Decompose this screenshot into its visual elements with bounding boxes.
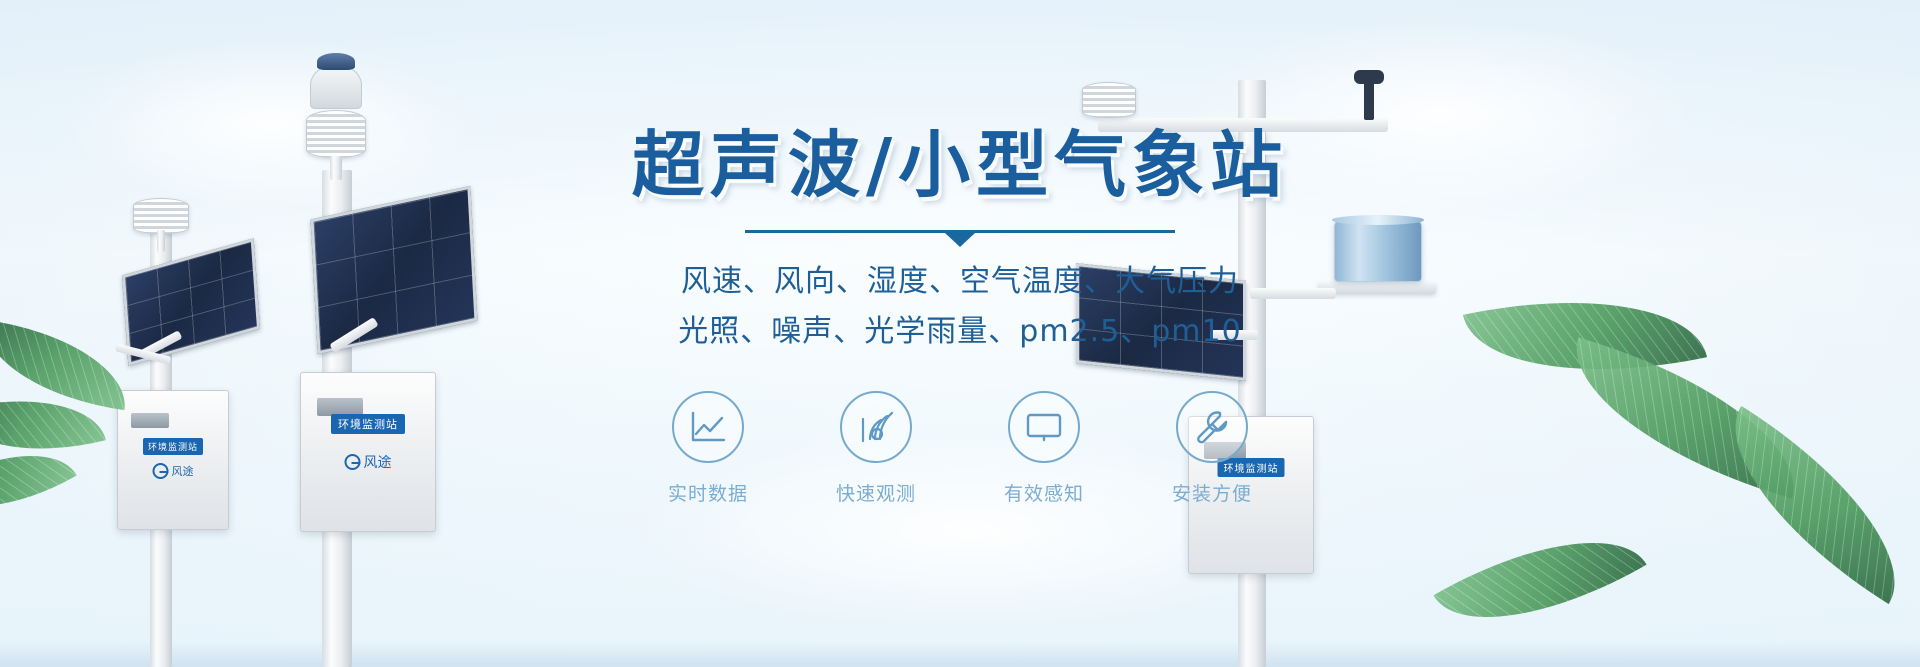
ultrasonic-wind-sensor (310, 65, 362, 109)
brand-mark-icon (153, 463, 169, 479)
feature-list: 实时数据 快速观测 (590, 391, 1330, 506)
enclosure-cabinet: 环境监测站 风途 (300, 372, 436, 532)
title-divider (745, 230, 1175, 233)
radiation-shield-sensor (133, 198, 189, 234)
brand-logo: 风途 (153, 463, 194, 479)
chevron-down-icon (945, 233, 975, 247)
cabinet-label: 环境监测站 (143, 438, 203, 455)
sensor-stem (157, 230, 165, 252)
subtitle-line-2: 光照、噪声、光学雨量、pm2.5、pm10 (590, 307, 1330, 357)
wrench-icon (1176, 391, 1248, 463)
product-banner: 环境监测站 风途 环境监测站 风途 (0, 0, 1920, 667)
cabinet-label: 环境监测站 (331, 414, 405, 434)
solar-panel (122, 238, 260, 366)
feature-label: 快速观测 (816, 479, 936, 506)
page-title: 超声波/小型气象站 (590, 128, 1330, 204)
banner-copy: 超声波/小型气象站 风速、风向、湿度、空气温度、大气压力 光照、噪声、光学雨量、… (590, 128, 1330, 506)
brand-logo: 风途 (345, 452, 392, 472)
radiation-shield-sensor (306, 110, 366, 158)
enclosure-cabinet: 环境监测站 风途 (117, 390, 229, 530)
feature-item-easy-installation[interactable]: 安装方便 (1152, 391, 1272, 506)
optical-rain-gauge (1334, 220, 1422, 282)
feature-item-realtime-data[interactable]: 实时数据 (648, 391, 768, 506)
station-left-large: 环境监测站 风途 (280, 30, 540, 667)
line-chart-icon (672, 391, 744, 463)
leaf-decoration (1433, 495, 1646, 664)
feature-label: 安装方便 (1152, 479, 1272, 506)
signal-wave-icon (840, 391, 912, 463)
feature-label: 有效感知 (984, 479, 1104, 506)
subtitle-line-1: 风速、风向、湿度、空气温度、大气压力 (590, 257, 1330, 307)
brand-name: 风途 (364, 452, 392, 472)
subtitle-block: 风速、风向、湿度、空气温度、大气压力 光照、噪声、光学雨量、pm2.5、pm10 (590, 257, 1330, 357)
feature-item-effective-sensing[interactable]: 有效感知 (984, 391, 1104, 506)
feature-label: 实时数据 (648, 479, 768, 506)
brand-name: 风途 (172, 463, 194, 479)
cabinet-vent (317, 398, 363, 415)
feature-item-fast-observation[interactable]: 快速观测 (816, 391, 936, 506)
monitor-icon (1008, 391, 1080, 463)
cabinet-vent (131, 413, 168, 428)
brand-mark-icon (345, 454, 361, 470)
wind-vane-cup (1354, 70, 1384, 84)
wind-vane-sensor (1364, 78, 1374, 120)
sensor-stem (330, 156, 342, 180)
radiation-shield-sensor (1082, 82, 1136, 118)
